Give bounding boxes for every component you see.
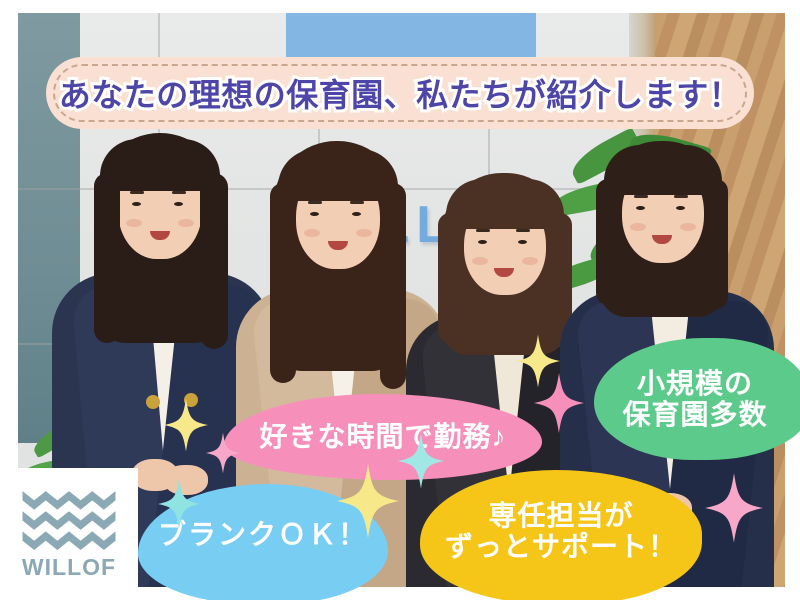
callout-green-line1: 小規模の — [637, 368, 753, 399]
callout-green: 小規模の 保育園多数 — [594, 338, 800, 460]
poster-canvas: WILLOF — [0, 0, 800, 600]
headline-text: あなたの理想の保育園、私たちが紹介します！ — [46, 57, 754, 129]
willof-logo: WILLOF — [0, 468, 138, 600]
callout-yellow-line2: ずっとサポート！ — [445, 531, 677, 562]
sparkle-yellow-left — [164, 398, 208, 452]
sparkle-cyan-mid — [398, 432, 444, 490]
willof-wordmark: WILLOF — [22, 554, 116, 581]
willof-chevron-icon — [22, 488, 116, 550]
sparkle-pink-right — [705, 472, 763, 544]
callout-pink-line1: 好きな時間で勤務♪ — [259, 421, 506, 452]
callout-yellow-line1: 専任担当が — [488, 500, 633, 531]
headline-banner: あなたの理想の保育園、私たちが紹介します！ — [46, 57, 754, 129]
sparkle-yellow-center — [337, 462, 399, 540]
callout-green-line2: 保育園多数 — [622, 399, 767, 430]
sparkle-pink-left — [206, 432, 240, 474]
sparkle-cyan-left — [158, 478, 200, 530]
callout-yellow: 専任担当が ずっとサポート！ — [420, 470, 702, 600]
sparkle-pink-mid — [534, 372, 584, 434]
